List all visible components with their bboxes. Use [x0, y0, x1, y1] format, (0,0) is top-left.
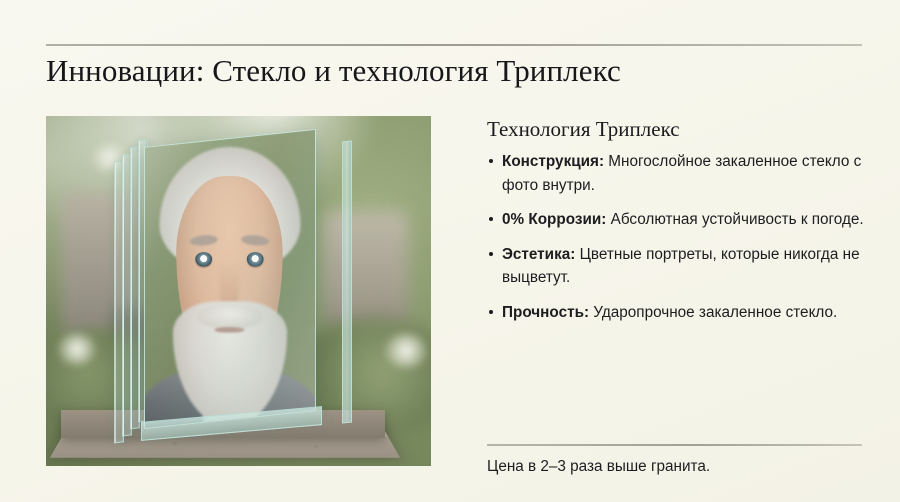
bullet-body-text: Ударопрочное закаленное стекло. — [589, 304, 837, 321]
bullet-lead-label: Конструкция: — [502, 153, 604, 170]
glass-pane-right-edge — [342, 141, 352, 424]
list-item: Конструкция: Многослойное закаленное сте… — [487, 150, 865, 197]
list-item: Прочность: Ударопрочное закаленное стекл… — [487, 301, 865, 325]
list-item: Эстетика: Цветные портреты, которые нико… — [487, 243, 865, 290]
glass-pane-with-portrait — [144, 129, 316, 429]
background-flower-right — [385, 333, 427, 368]
glass-pane-stack — [123, 144, 346, 424]
section-subheading: Технология Триплекс — [487, 116, 680, 142]
portrait-eye-right — [247, 253, 263, 267]
portrait-mustache — [198, 304, 263, 329]
portrait-eye-left — [196, 253, 212, 267]
bullet-body-text: Абсолютная устойчивость к погоде. — [606, 211, 863, 228]
triplex-monument-photo — [46, 116, 431, 466]
bullet-lead-label: Прочность: — [502, 304, 589, 321]
footnote-text: Цена в 2–3 раза выше гранита. — [487, 456, 710, 478]
title-top-divider — [46, 44, 862, 46]
feature-bullet-list: Конструкция: Многослойное закаленное сте… — [487, 150, 865, 335]
footnote-divider — [487, 444, 862, 446]
bullet-lead-label: 0% Коррозии: — [502, 211, 606, 228]
bullet-lead-label: Эстетика: — [502, 246, 575, 263]
background-flower-left — [58, 333, 97, 365]
portrait-image — [144, 129, 316, 429]
slide-canvas: Инновации: Стекло и технология Триплекс — [0, 0, 900, 502]
page-title: Инновации: Стекло и технология Триплекс — [46, 52, 862, 90]
list-item: 0% Коррозии: Абсолютная устойчивость к п… — [487, 208, 865, 232]
